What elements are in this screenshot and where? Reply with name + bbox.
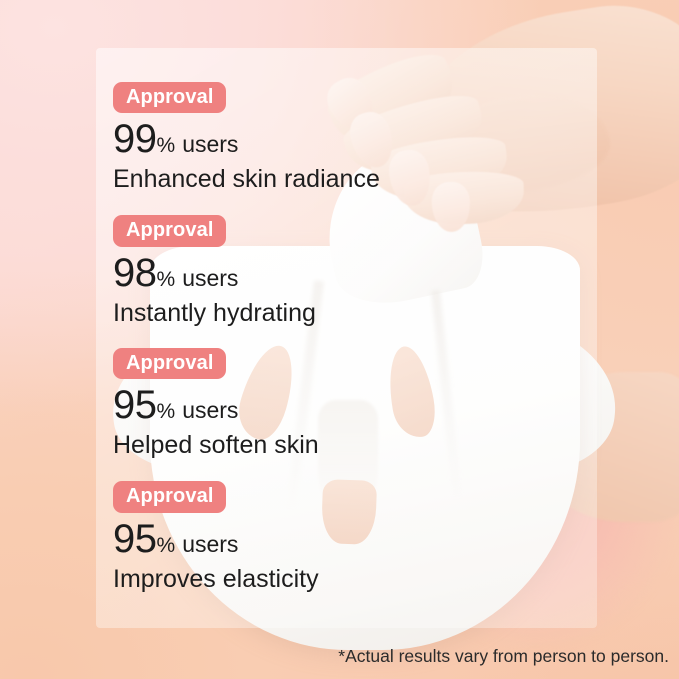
claim-block: Approval 95%users Helped soften skin xyxy=(113,348,633,459)
claim-block: Approval 95%users Improves elasticity xyxy=(113,481,633,592)
claim-percent-sign: % xyxy=(157,400,176,423)
claim-number: 95 xyxy=(113,383,157,427)
claim-stat-line: 98%users xyxy=(113,253,633,293)
results-disclaimer: *Actual results vary from person to pers… xyxy=(338,646,669,667)
claim-stat-line: 95%users xyxy=(113,385,633,425)
claims-list: Approval 99%users Enhanced skin radiance… xyxy=(113,82,633,593)
claim-users-label: users xyxy=(182,531,238,557)
product-claims-graphic: Approval 99%users Enhanced skin radiance… xyxy=(0,0,679,679)
approval-badge: Approval xyxy=(113,215,226,246)
claim-description: Instantly hydrating xyxy=(113,299,633,327)
claim-number: 95 xyxy=(113,517,157,561)
claim-description: Enhanced skin radiance xyxy=(113,165,633,193)
approval-badge: Approval xyxy=(113,348,226,379)
claim-stat-line: 99%users xyxy=(113,119,633,159)
claim-block: Approval 98%users Instantly hydrating xyxy=(113,215,633,326)
claim-number: 98 xyxy=(113,251,157,295)
claim-block: Approval 99%users Enhanced skin radiance xyxy=(113,82,633,193)
claim-stat-line: 95%users xyxy=(113,519,633,559)
claim-percent-sign: % xyxy=(157,268,176,291)
claim-percent-sign: % xyxy=(157,534,176,557)
claim-description: Improves elasticity xyxy=(113,565,633,593)
claim-description: Helped soften skin xyxy=(113,431,633,459)
approval-badge: Approval xyxy=(113,481,226,512)
claim-users-label: users xyxy=(182,265,238,291)
approval-badge: Approval xyxy=(113,82,226,113)
claim-number: 99 xyxy=(113,117,157,161)
claim-users-label: users xyxy=(182,131,238,157)
claim-users-label: users xyxy=(182,397,238,423)
claim-percent-sign: % xyxy=(157,134,176,157)
